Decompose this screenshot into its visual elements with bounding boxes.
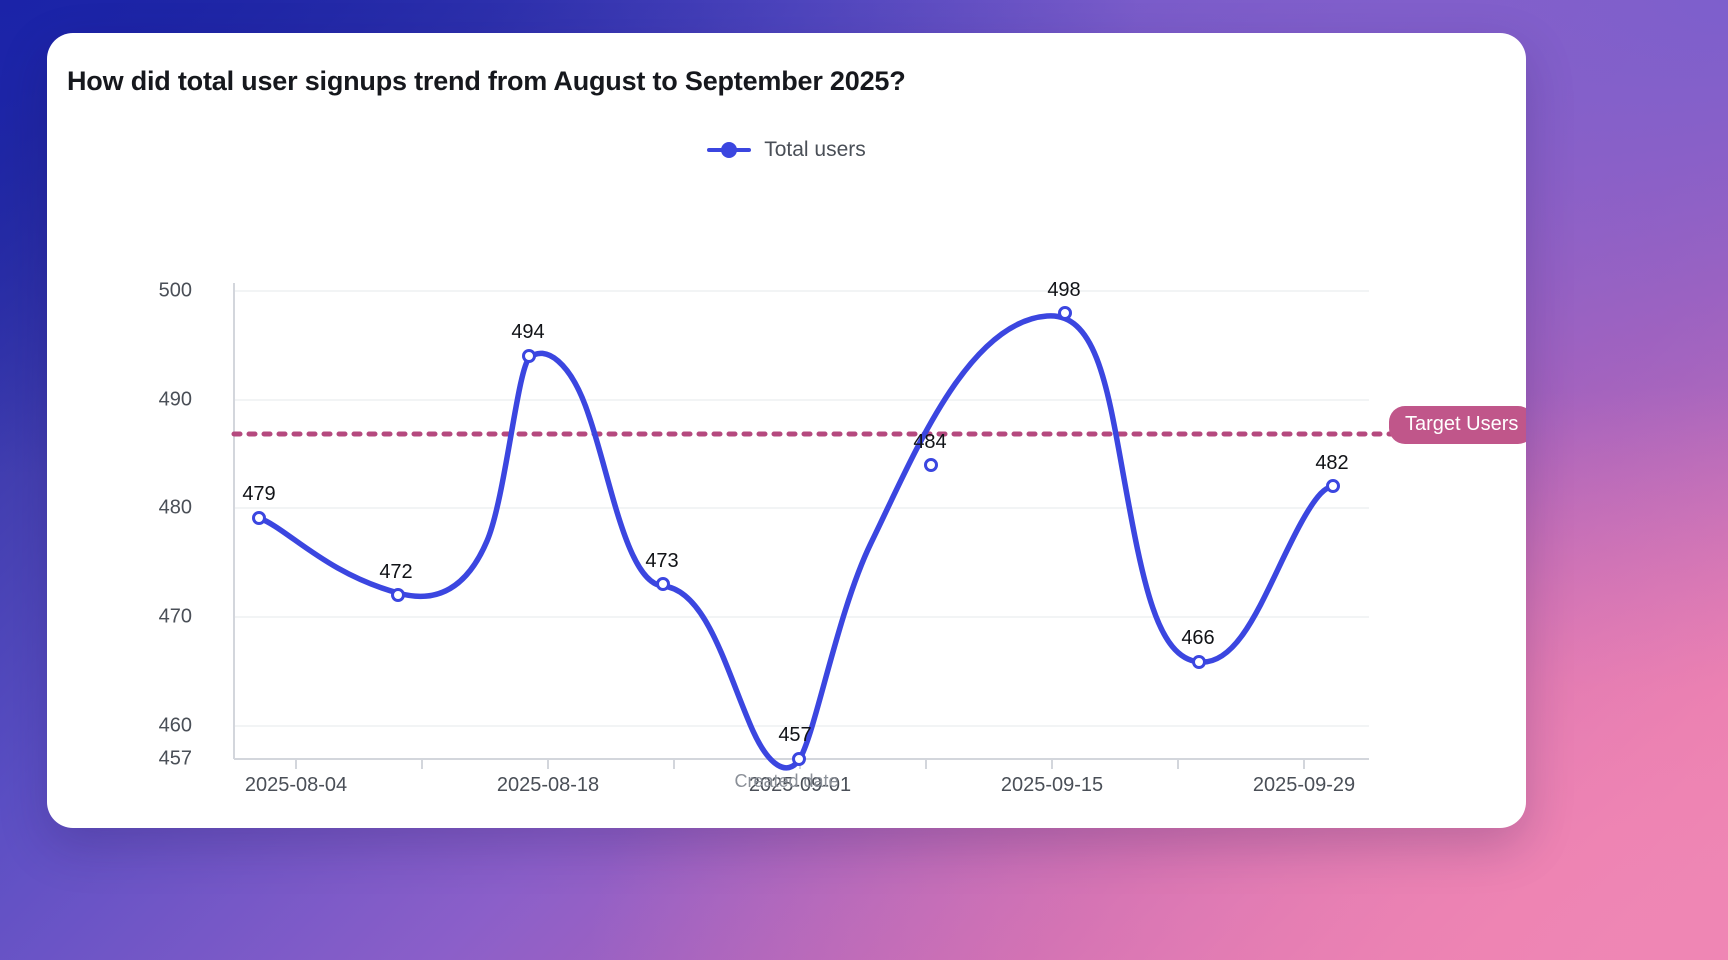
data-point-2025-08-04 bbox=[254, 513, 265, 524]
data-point-2025-08-25 bbox=[658, 579, 669, 590]
series-line-total-users bbox=[259, 316, 1333, 768]
data-point-2025-09-15 bbox=[1060, 308, 1071, 319]
data-point-markers bbox=[254, 308, 1339, 765]
point-label-2025-09-15: 498 bbox=[1047, 279, 1080, 302]
data-point-2025-09-01 bbox=[794, 754, 805, 765]
data-point-2025-09-22 bbox=[1194, 657, 1205, 668]
point-label-2025-09-01: 457 bbox=[778, 724, 811, 747]
x-axis-title: Created date bbox=[47, 771, 1526, 792]
target-users-badge[interactable]: Target Users bbox=[1389, 406, 1526, 444]
point-label-2025-09-08: 484 bbox=[913, 431, 946, 454]
data-point-2025-08-11 bbox=[393, 590, 404, 601]
point-label-2025-08-11: 472 bbox=[379, 561, 412, 584]
point-label-2025-08-25: 473 bbox=[645, 550, 678, 573]
line-chart-plot: Total users 500 490 480 470 460 457 bbox=[47, 33, 1526, 828]
chart-card: How did total user signups trend from Au… bbox=[47, 33, 1526, 828]
data-point-2025-09-08 bbox=[926, 460, 937, 471]
chart-svg bbox=[47, 33, 1526, 828]
point-label-2025-09-29: 482 bbox=[1315, 452, 1348, 475]
point-label-2025-08-18: 494 bbox=[511, 321, 544, 344]
point-label-2025-09-22: 466 bbox=[1181, 627, 1214, 650]
data-point-2025-09-29 bbox=[1328, 481, 1339, 492]
data-point-2025-08-18 bbox=[524, 351, 535, 362]
point-label-2025-08-04: 479 bbox=[242, 483, 275, 506]
